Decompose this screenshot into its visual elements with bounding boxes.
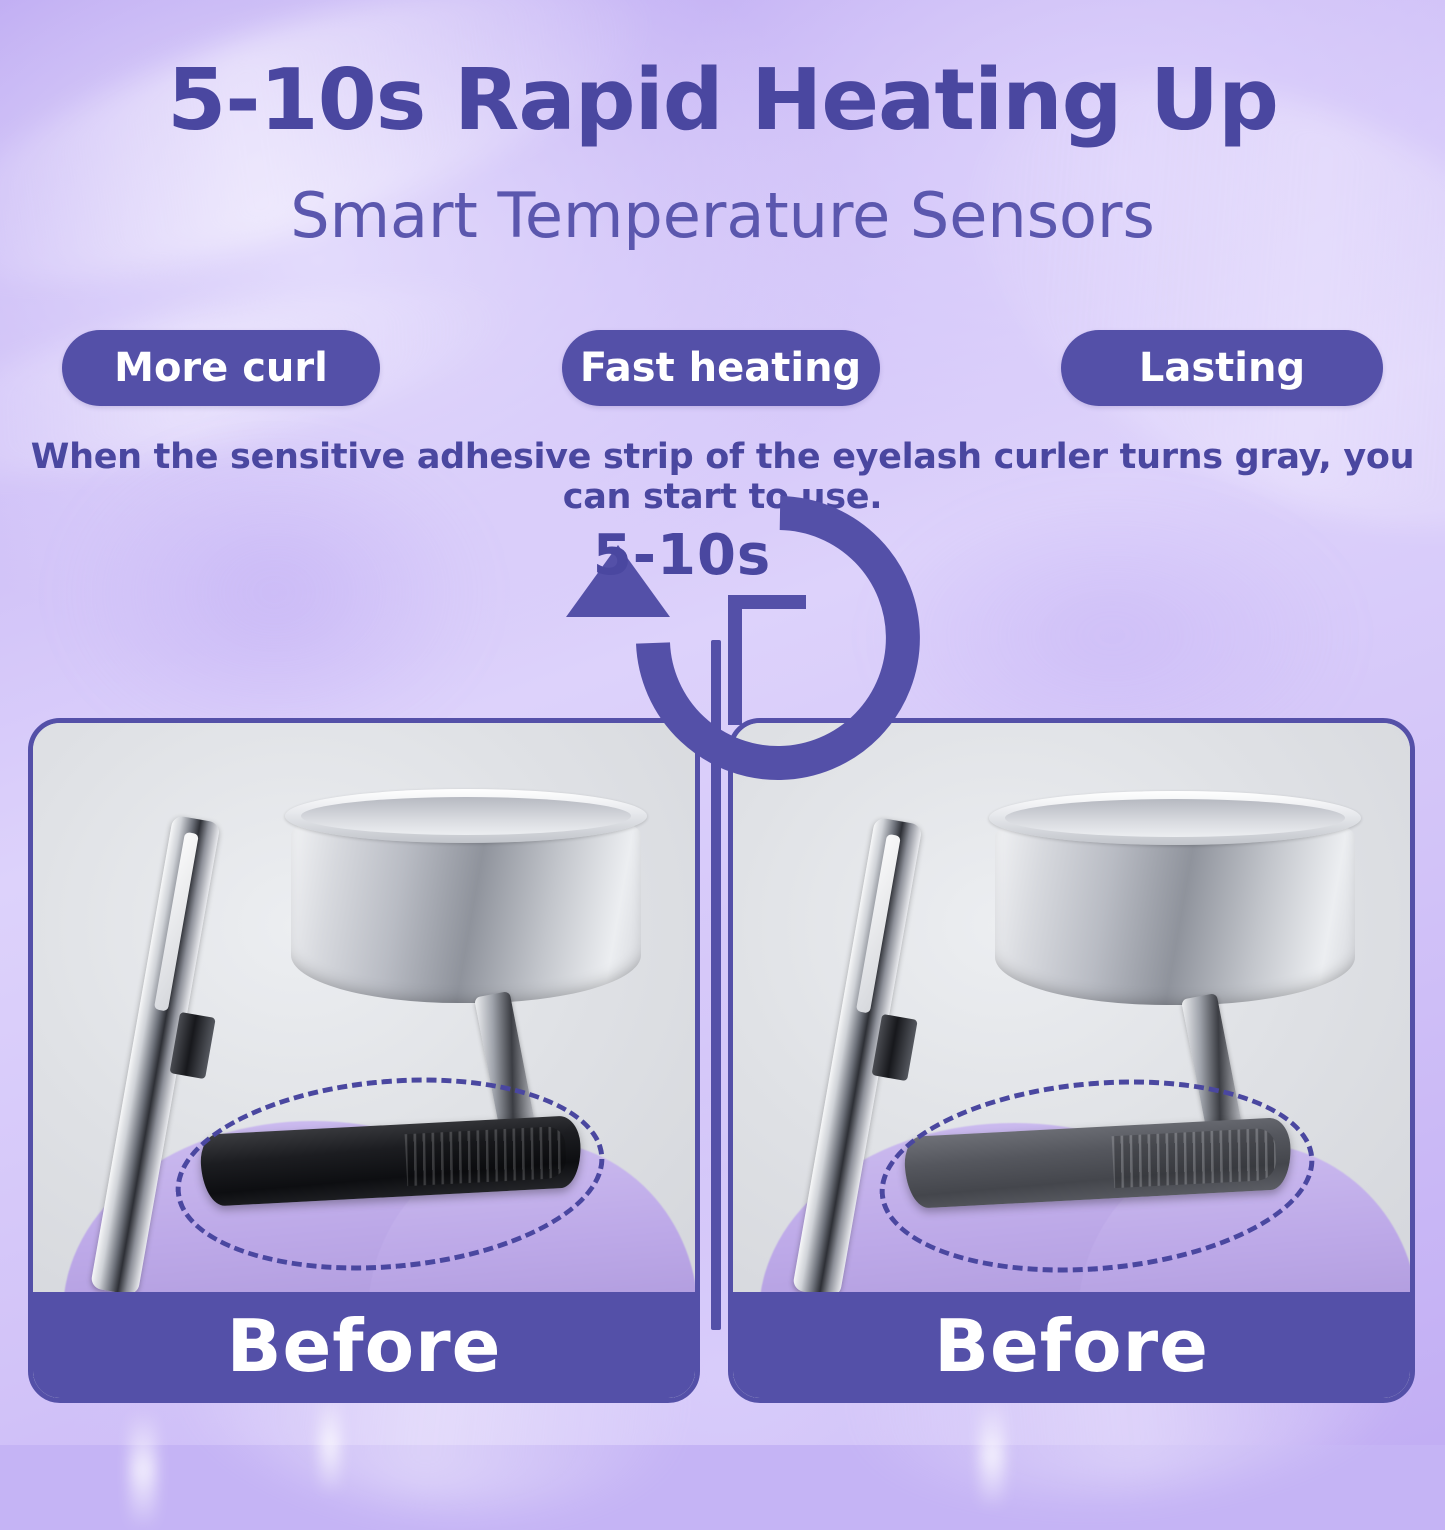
duration-label: 5-10s xyxy=(567,523,797,588)
feature-pill-fast-heating[interactable]: Fast heating xyxy=(562,330,880,406)
comparison-panel-left[interactable]: Before xyxy=(28,718,700,1403)
feature-pill-more-curl[interactable]: More curl xyxy=(62,330,380,406)
panel-caption-left: Before xyxy=(31,1292,697,1400)
page-title: 5-10s Rapid Heating Up xyxy=(0,58,1445,143)
comparison-panel-right[interactable]: Before xyxy=(728,718,1415,1403)
feature-pill-lasting[interactable]: Lasting xyxy=(1061,330,1383,406)
feature-pill-row: More curl Fast heating Lasting xyxy=(62,330,1383,406)
metal-cup-inner xyxy=(301,797,631,835)
page-subtitle: Smart Temperature Sensors xyxy=(0,185,1445,247)
panel-caption-right: Before xyxy=(731,1292,1412,1400)
metal-cup-inner xyxy=(1005,799,1345,837)
rotate-timer-graphic: 5-10s xyxy=(515,495,945,795)
